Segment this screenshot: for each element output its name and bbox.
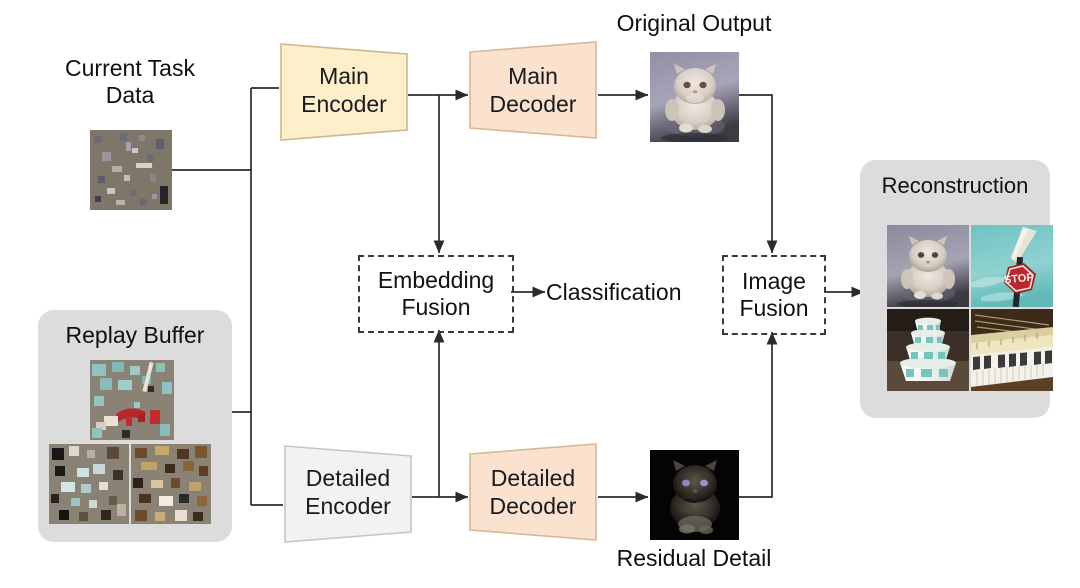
recon-stop-sign: STOP <box>971 225 1053 307</box>
current-task-thumb-noise <box>90 130 172 210</box>
original-output-cat <box>650 52 739 142</box>
detailed-encoder-label: Detailed Encoder <box>305 464 391 520</box>
residual-detail-cat <box>650 450 739 540</box>
embedding-fusion-box[interactable]: Embedding Fusion <box>358 255 514 333</box>
replay-thumb-left <box>49 444 129 524</box>
recon-cat <box>887 225 969 307</box>
replay-thumb-top <box>90 360 174 440</box>
embedding-fusion-label: Embedding Fusion <box>378 267 494 321</box>
residual-detail-label: Residual Detail <box>594 545 794 572</box>
recon-bowls <box>887 309 969 391</box>
image-fusion-box[interactable]: Image Fusion <box>722 255 826 335</box>
classification-label: Classification <box>546 279 716 306</box>
main-decoder-block[interactable]: Main Decoder <box>468 38 598 142</box>
main-encoder-block[interactable]: Main Encoder <box>279 38 409 142</box>
replay-buffer-label: Replay Buffer <box>38 322 232 349</box>
diagram-canvas: Current Task Data Replay B <box>0 0 1080 588</box>
recon-piano <box>971 309 1053 391</box>
detailed-decoder-block[interactable]: Detailed Decoder <box>468 440 598 544</box>
image-fusion-label: Image Fusion <box>739 268 808 322</box>
original-output-label: Original Output <box>594 10 794 37</box>
main-decoder-label: Main Decoder <box>490 62 577 118</box>
reconstruction-label: Reconstruction <box>860 172 1050 199</box>
detailed-encoder-block[interactable]: Detailed Encoder <box>283 440 413 544</box>
current-task-data-label: Current Task Data <box>50 55 210 109</box>
detailed-decoder-label: Detailed Decoder <box>490 464 577 520</box>
main-encoder-label: Main Encoder <box>301 62 387 118</box>
replay-thumb-right <box>131 444 211 524</box>
